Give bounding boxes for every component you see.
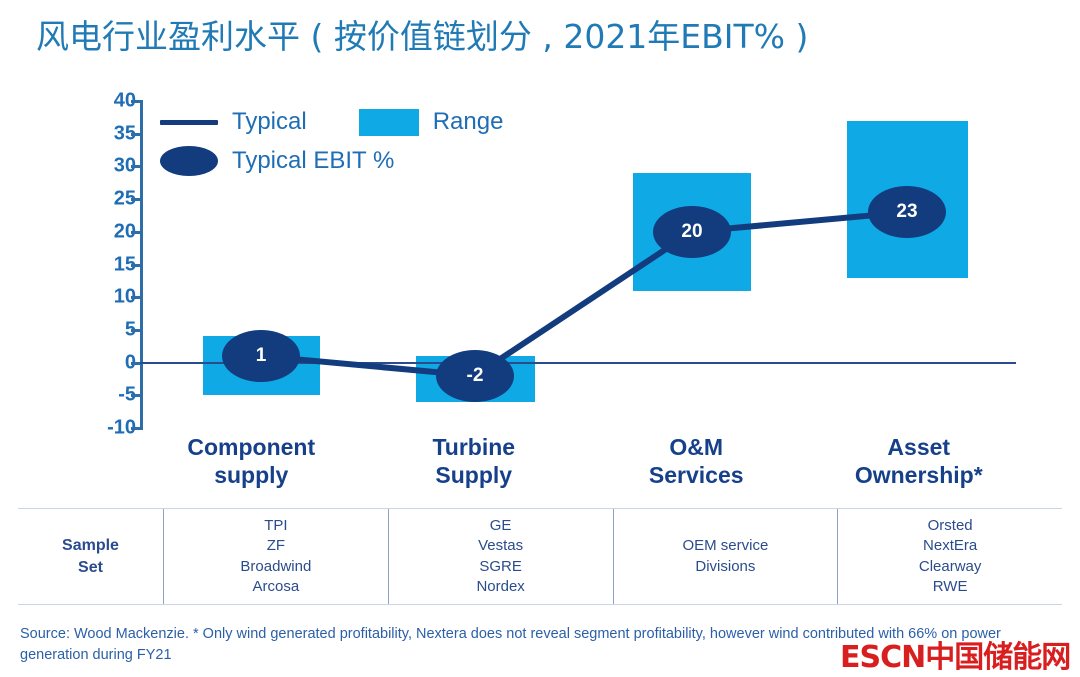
sample-set-entry: TPI	[240, 516, 311, 536]
sample-set-header-line1: Sample	[62, 535, 119, 557]
sample-set-entry: Broadwind	[240, 557, 311, 577]
category-label: O&MServices	[585, 434, 808, 489]
sample-set-entry: SGRE	[476, 557, 524, 577]
sample-set-header: Sample Set	[18, 509, 163, 604]
sample-set-entry: Arcosa	[240, 577, 311, 597]
typical-ebit-marker: -2	[436, 350, 514, 402]
category-label: Componentsupply	[140, 434, 363, 489]
sample-cell-turbine-supply: GEVestasSGRENordex	[388, 509, 613, 604]
sample-set-entry: OEM service	[682, 536, 768, 556]
chart-plot-area: Typical Range Typical EBIT % 40353025201…	[0, 90, 1080, 440]
sample-set-entry: Nordex	[476, 577, 524, 597]
sample-set-entry: RWE	[919, 577, 982, 597]
sample-set-entry: ZF	[240, 536, 311, 556]
typical-ebit-marker: 1	[222, 330, 300, 382]
typical-ebit-marker: 20	[653, 206, 731, 258]
sample-cell-component-supply: TPIZFBroadwindArcosa	[163, 509, 388, 604]
sample-set-table: Sample Set TPIZFBroadwindArcosa GEVestas…	[18, 508, 1062, 605]
sample-set-entry: Orsted	[919, 516, 982, 536]
page-title: 风电行业盈利水平 ( 按价值链划分 , 2021年EBIT% )	[36, 10, 808, 58]
category-labels: ComponentsupplyTurbineSupplyO&MServicesA…	[140, 434, 1030, 489]
category-label: AssetOwnership*	[808, 434, 1031, 489]
typical-ebit-marker: 23	[868, 186, 946, 238]
sample-set-entry: Vestas	[476, 536, 524, 556]
typical-line-series	[0, 90, 1080, 440]
sample-cell-om-services: OEM serviceDivisions	[613, 509, 838, 604]
category-label: TurbineSupply	[363, 434, 586, 489]
sample-set-entry: Clearway	[919, 557, 982, 577]
sample-cell-asset-ownership: OrstedNextEraClearwayRWE	[837, 509, 1062, 604]
sample-set-entry: Divisions	[682, 557, 768, 577]
sample-set-entry: NextEra	[919, 536, 982, 556]
sample-set-entry: GE	[476, 516, 524, 536]
sample-set-header-line2: Set	[62, 557, 119, 579]
escn-watermark: ESCN中国储能网	[840, 632, 1070, 676]
